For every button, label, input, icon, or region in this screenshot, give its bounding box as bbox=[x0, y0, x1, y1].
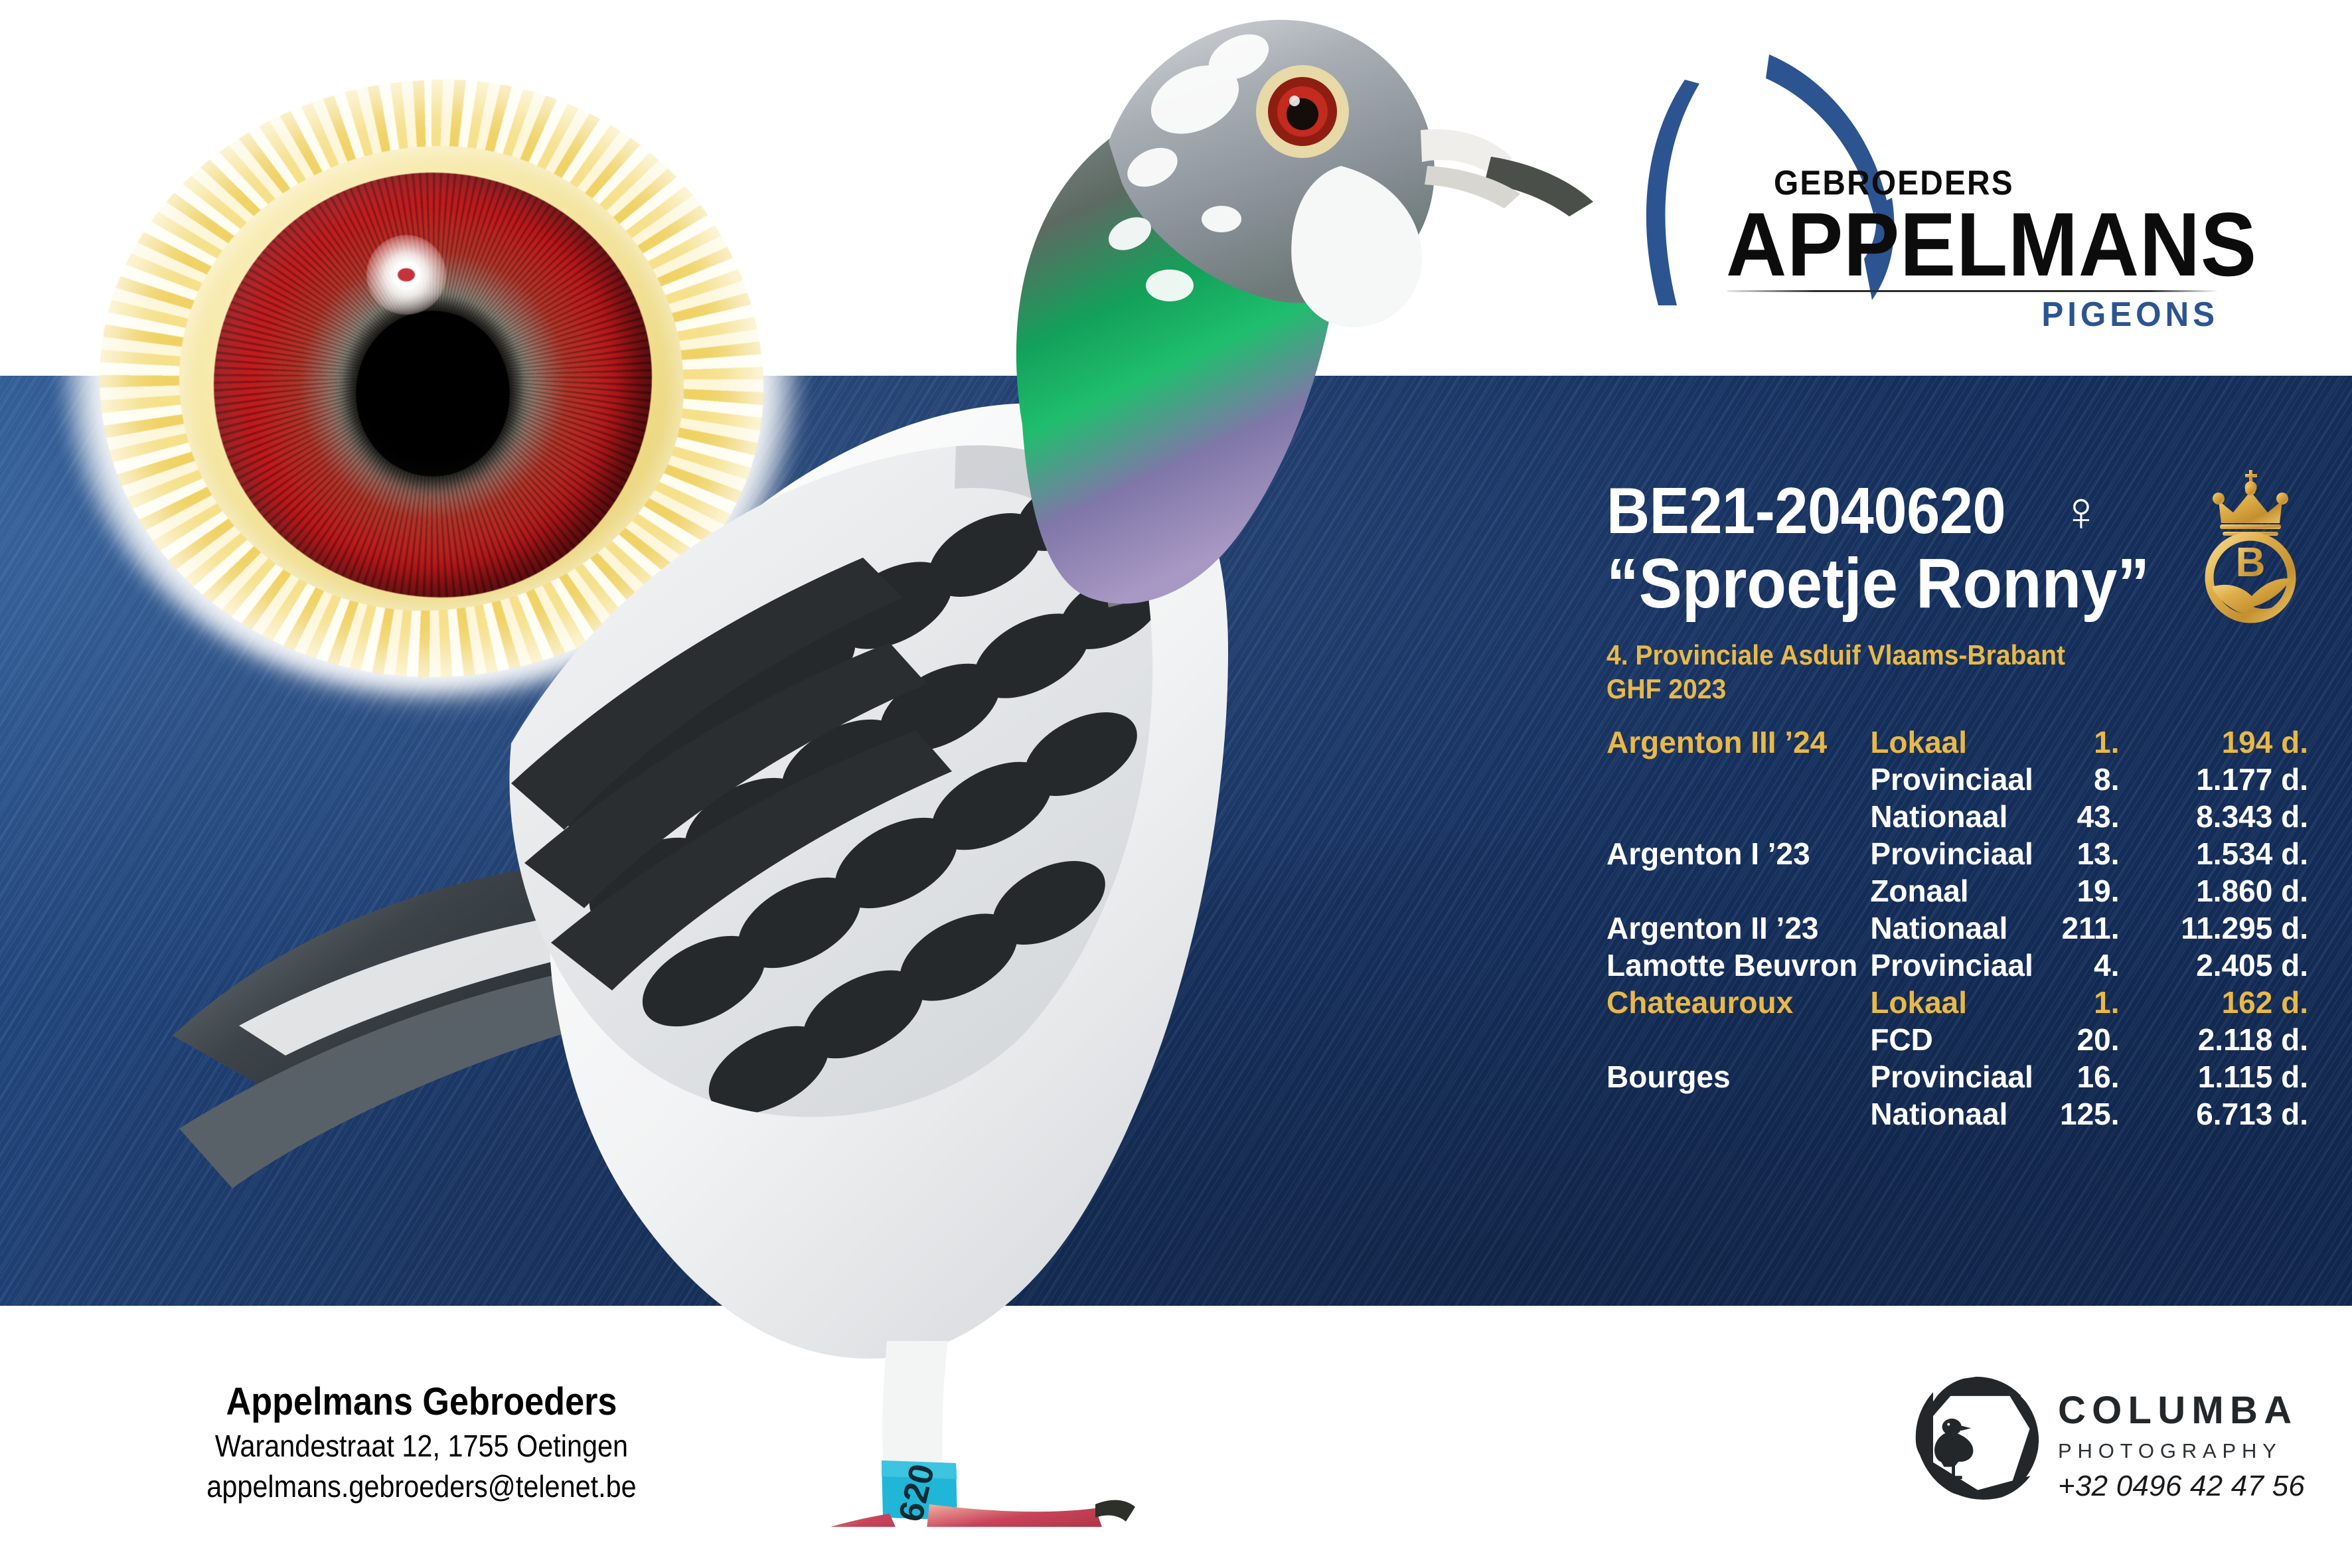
sex-symbol-icon: ♀ bbox=[2060, 483, 2102, 539]
table-row: Argenton I ’23Provinciaal13.1.534 d. bbox=[1607, 835, 2320, 872]
race-name bbox=[1607, 872, 1870, 909]
race-name bbox=[1607, 798, 1870, 835]
race-bird-count: 1.534 d. bbox=[2126, 835, 2320, 872]
table-row: BourgesProvinciaal16.1.115 d. bbox=[1607, 1058, 2320, 1095]
kbdb-crown-b-logo: B bbox=[2181, 466, 2321, 625]
race-name: Chateauroux bbox=[1607, 984, 1870, 1021]
race-name: Bourges bbox=[1607, 1058, 1870, 1095]
race-position: 19. bbox=[2037, 872, 2126, 909]
table-row: Argenton III ’24Lokaal1.194 d. bbox=[1607, 724, 2320, 761]
race-level: Nationaal bbox=[1870, 798, 2037, 835]
race-level: Provinciaal bbox=[1870, 947, 2037, 984]
race-name bbox=[1607, 1095, 1870, 1133]
race-bird-count: 1.115 d. bbox=[2126, 1058, 2320, 1095]
brand-appelmans-text: APPELMANS bbox=[1726, 202, 2220, 287]
table-row: Nationaal43.8.343 d. bbox=[1607, 798, 2320, 835]
pigeon-info-panel: BE21-2040620 ♀ “Sproetje Ronny” bbox=[1607, 478, 2337, 1133]
race-position: 8. bbox=[2037, 761, 2126, 798]
owner-address: Warandestraat 12, 1755 Oetingen bbox=[153, 1427, 690, 1466]
race-position: 20. bbox=[2037, 1021, 2126, 1058]
race-bird-count: 194 d. bbox=[2126, 724, 2320, 761]
owner-contact-block: Appelmans Gebroeders Warandestraat 12, 1… bbox=[123, 1381, 720, 1506]
race-level: Lokaal bbox=[1870, 724, 2037, 761]
race-position: 211. bbox=[2037, 909, 2126, 947]
race-position: 1. bbox=[2037, 984, 2126, 1021]
table-row: FCD20.2.118 d. bbox=[1607, 1021, 2320, 1058]
race-position: 4. bbox=[2037, 947, 2126, 984]
crown-icon bbox=[2213, 470, 2288, 536]
race-name: Argenton III ’24 bbox=[1607, 724, 1870, 761]
race-level: FCD bbox=[1870, 1021, 2037, 1058]
brand-pigeons-text: PIGEONS bbox=[1751, 295, 2219, 335]
achievement-block: 4. Provinciale Asduif Vlaams-Brabant GHF… bbox=[1607, 638, 2286, 706]
race-level: Zonaal bbox=[1870, 872, 2037, 909]
photographer-credit: COLUMBA PHOTOGRAPHY +32 0496 42 47 56 bbox=[1912, 1373, 2337, 1539]
race-level: Provinciaal bbox=[1870, 1058, 2037, 1095]
table-row: Zonaal19.1.860 d. bbox=[1607, 872, 2320, 909]
table-row: Argenton II ’23Nationaal211.11.295 d. bbox=[1607, 909, 2320, 947]
race-bird-count: 162 d. bbox=[2126, 984, 2320, 1021]
brand-wordmark: GEBROEDERS APPELMANS PIGEONS bbox=[1726, 166, 2257, 335]
owner-email[interactable]: appelmans.gebroeders@telenet.be bbox=[153, 1468, 690, 1506]
race-position: 1. bbox=[2037, 724, 2126, 761]
race-level: Nationaal bbox=[1870, 909, 2037, 947]
race-level: Nationaal bbox=[1870, 1095, 2037, 1133]
table-row: Nationaal125.6.713 d. bbox=[1607, 1095, 2320, 1133]
race-name: Argenton II ’23 bbox=[1607, 909, 1870, 947]
photographer-text: COLUMBA PHOTOGRAPHY +32 0496 42 47 56 bbox=[2058, 1373, 2305, 1501]
ring-number: BE21-2040620 bbox=[1607, 478, 2005, 544]
owner-name: Appelmans Gebroeders bbox=[153, 1381, 690, 1423]
pigeon-photo: 620 bbox=[100, 0, 1593, 1527]
pigeon-pedigree-poster: 620 GEBROEDERS APPELMANS PIGEONS bbox=[0, 0, 2352, 1568]
table-row: ChateaurouxLokaal1.162 d. bbox=[1607, 984, 2320, 1021]
pigeon-nickname: “Sproetje Ronny” bbox=[1607, 547, 2278, 621]
table-row: Lamotte BeuvronProvinciaal4.2.405 d. bbox=[1607, 947, 2320, 984]
race-bird-count: 2.118 d. bbox=[2126, 1021, 2320, 1058]
photographer-phone[interactable]: +32 0496 42 47 56 bbox=[2058, 1472, 2305, 1501]
race-position: 125. bbox=[2037, 1095, 2126, 1133]
race-position: 13. bbox=[2037, 835, 2126, 872]
race-bird-count: 6.713 d. bbox=[2126, 1095, 2320, 1133]
photographer-name: COLUMBA bbox=[2058, 1391, 2305, 1430]
race-level: Provinciaal bbox=[1870, 761, 2037, 798]
race-position: 43. bbox=[2037, 798, 2126, 835]
race-name bbox=[1607, 1021, 1870, 1058]
race-bird-count: 11.295 d. bbox=[2126, 909, 2320, 947]
race-results-table: Argenton III ’24Lokaal1.194 d.Provinciaa… bbox=[1607, 724, 2320, 1133]
appelmans-brand-logo: GEBROEDERS APPELMANS PIGEONS bbox=[1607, 40, 2284, 305]
achievement-line-1: 4. Provinciale Asduif Vlaams-Brabant bbox=[1607, 638, 2286, 672]
race-name: Argenton I ’23 bbox=[1607, 835, 1870, 872]
race-level: Lokaal bbox=[1870, 984, 2037, 1021]
race-bird-count: 8.343 d. bbox=[2126, 798, 2320, 835]
race-name bbox=[1607, 761, 1870, 798]
photographer-subtitle: PHOTOGRAPHY bbox=[2058, 1441, 2305, 1461]
race-name: Lamotte Beuvron bbox=[1607, 947, 1870, 984]
race-position: 16. bbox=[2037, 1058, 2126, 1095]
camera-aperture-pigeon-icon bbox=[1912, 1373, 2041, 1502]
race-results-body: Argenton III ’24Lokaal1.194 d.Provinciaa… bbox=[1607, 724, 2320, 1133]
race-bird-count: 2.405 d. bbox=[2126, 947, 2320, 984]
race-bird-count: 1.860 d. bbox=[2126, 872, 2320, 909]
pigeon-leg bbox=[882, 1341, 948, 1472]
achievement-line-2: GHF 2023 bbox=[1607, 672, 2286, 706]
emblem-letter-b: B bbox=[2236, 540, 2266, 586]
race-level: Provinciaal bbox=[1870, 835, 2037, 872]
table-row: Provinciaal8.1.177 d. bbox=[1607, 761, 2320, 798]
race-bird-count: 1.177 d. bbox=[2126, 761, 2320, 798]
